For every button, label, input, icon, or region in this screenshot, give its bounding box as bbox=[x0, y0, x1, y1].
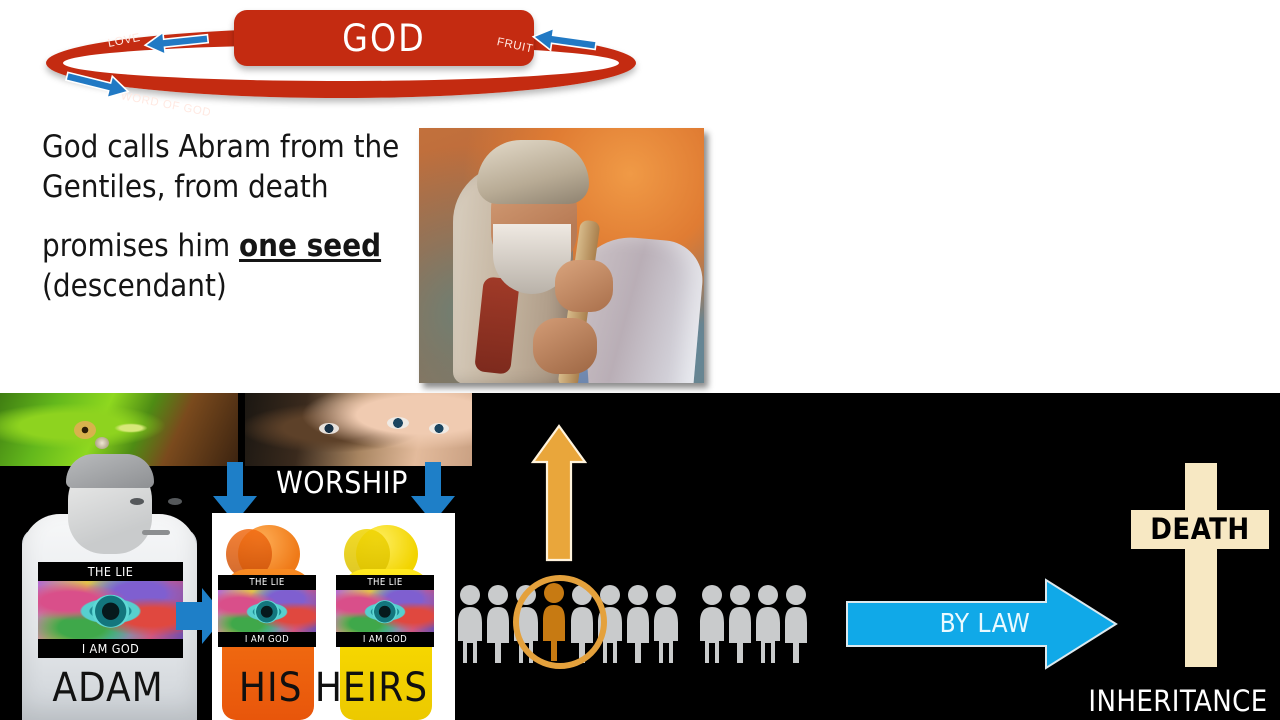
body-line-3: promises him one seed bbox=[42, 227, 412, 267]
adam-lie-card-top-label: THE LIE bbox=[38, 562, 183, 581]
portrait-turban bbox=[477, 140, 589, 204]
adam-eye-right bbox=[168, 498, 182, 505]
serpent-eye bbox=[74, 421, 96, 439]
worship-label: WORSHIP bbox=[256, 466, 428, 501]
inheritance-label: INHERITANCE bbox=[1076, 684, 1280, 718]
couple-eye-center bbox=[387, 417, 409, 429]
slide-body-text: God calls Abram from the Gentiles, from … bbox=[42, 128, 412, 307]
arrow-left-icon bbox=[530, 27, 598, 55]
adam-name-label: ADAM bbox=[28, 665, 188, 711]
body-line-4: (descendant) bbox=[42, 267, 412, 307]
god-cycle-diagram: GOD LOVE WORD OF GOD FRUIT bbox=[38, 4, 658, 114]
death-label: DEATH bbox=[1131, 509, 1269, 548]
god-center-box: GOD bbox=[234, 10, 534, 66]
couple-eye-right bbox=[429, 423, 449, 434]
ring-label-word-of-god: WORD OF GOD bbox=[120, 90, 212, 119]
serpent-nostril bbox=[95, 437, 109, 449]
eye-artwork-icon bbox=[38, 581, 183, 639]
cross-icon bbox=[1185, 463, 1217, 667]
couple-photo bbox=[245, 393, 472, 466]
adam-hair bbox=[66, 454, 154, 488]
god-label: GOD bbox=[342, 20, 426, 57]
arrow-right-icon bbox=[64, 70, 132, 98]
adam-mouth bbox=[142, 530, 170, 535]
heir-lie-card-top-label: THE LIE bbox=[218, 575, 316, 590]
heir-lie-card-bottom-label: I AM GOD bbox=[336, 632, 434, 647]
eye-artwork-icon bbox=[218, 590, 316, 632]
adam-lie-card: THE LIE I AM GOD bbox=[38, 562, 183, 658]
portrait-lower-hand bbox=[533, 318, 597, 374]
his-heirs-name-label: HIS HEIRS bbox=[212, 665, 455, 711]
body-line-2: Gentiles, from death bbox=[42, 168, 412, 208]
couple-eye-left bbox=[319, 423, 339, 434]
adam-lie-card-bottom-label: I AM GOD bbox=[38, 639, 183, 658]
crowd-highlight-ring bbox=[513, 575, 607, 669]
adam-eye-left bbox=[130, 498, 144, 505]
by-law-label: BY LAW bbox=[905, 609, 1065, 639]
body-line-1: God calls Abram from the bbox=[42, 128, 412, 168]
portrait-upper-hand bbox=[555, 260, 613, 312]
body-line-3-emphasis: one seed bbox=[239, 228, 381, 264]
heir-lie-card-bottom-label: I AM GOD bbox=[218, 632, 316, 647]
heir-lie-card-top-label: THE LIE bbox=[336, 575, 434, 590]
abraham-portrait-image bbox=[419, 128, 704, 383]
slide-canvas: GOD LOVE WORD OF GOD FRUIT God calls Abr… bbox=[0, 0, 1280, 720]
body-line-3-prefix: promises him bbox=[42, 228, 239, 264]
heir-lie-card: THE LIE I AM GOD bbox=[336, 575, 434, 647]
heir-lie-card: THE LIE I AM GOD bbox=[218, 575, 316, 647]
arrow-left-icon bbox=[142, 28, 210, 56]
eye-artwork-icon bbox=[336, 590, 434, 632]
arrow-up-icon bbox=[531, 424, 587, 562]
